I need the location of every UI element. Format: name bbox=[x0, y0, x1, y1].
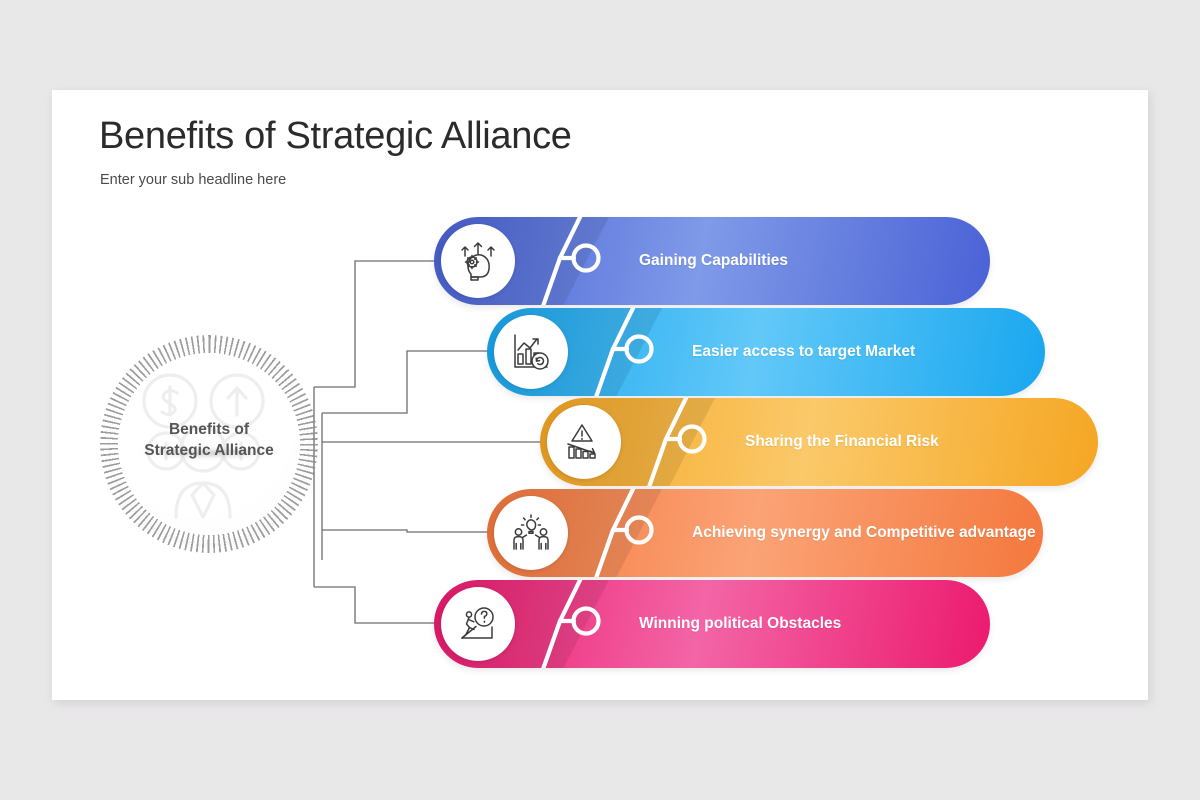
central-hub[interactable]: Benefits of Strategic Alliance bbox=[100, 335, 318, 553]
puzzle-seam bbox=[538, 580, 636, 668]
puzzle-seam bbox=[591, 308, 689, 396]
screenshot-root: Benefits of Strategic Alliance Enter you… bbox=[0, 0, 1200, 800]
benefit-row[interactable]: Winning political Obstacles bbox=[434, 580, 990, 668]
puzzle-seam bbox=[591, 489, 689, 577]
slide-canvas: Benefits of Strategic Alliance Enter you… bbox=[52, 90, 1148, 700]
warning-declining-chart-icon[interactable] bbox=[547, 405, 621, 479]
benefit-label: Easier access to target Market bbox=[692, 308, 915, 396]
puzzle-seam bbox=[644, 398, 742, 486]
benefit-row[interactable]: Achieving synergy and Competitive advant… bbox=[487, 489, 1043, 577]
benefit-label: Winning political Obstacles bbox=[639, 580, 841, 668]
benefit-row[interactable]: Sharing the Financial Risk bbox=[540, 398, 1098, 486]
benefit-label: Sharing the Financial Risk bbox=[745, 398, 939, 486]
two-people-lightbulb-icon[interactable] bbox=[494, 496, 568, 570]
hub-label-line1: Benefits of bbox=[100, 419, 318, 440]
page-title: Benefits of Strategic Alliance bbox=[99, 115, 572, 158]
benefit-row[interactable]: Easier access to target Market bbox=[487, 308, 1045, 396]
hub-label-line2: Strategic Alliance bbox=[100, 440, 318, 461]
bar-chart-growth-refresh-icon[interactable] bbox=[494, 315, 568, 389]
puzzle-seam bbox=[538, 217, 636, 305]
person-pushing-question-boulder-icon[interactable] bbox=[441, 587, 515, 661]
hub-label: Benefits of Strategic Alliance bbox=[100, 419, 318, 461]
benefit-label: Gaining Capabilities bbox=[639, 217, 788, 305]
lightbulb-head-gear-arrows-icon[interactable] bbox=[441, 224, 515, 298]
page-subtitle: Enter your sub headline here bbox=[100, 172, 286, 188]
benefit-label: Achieving synergy and Competitive advant… bbox=[692, 489, 1036, 577]
benefit-row[interactable]: Gaining Capabilities bbox=[434, 217, 990, 305]
